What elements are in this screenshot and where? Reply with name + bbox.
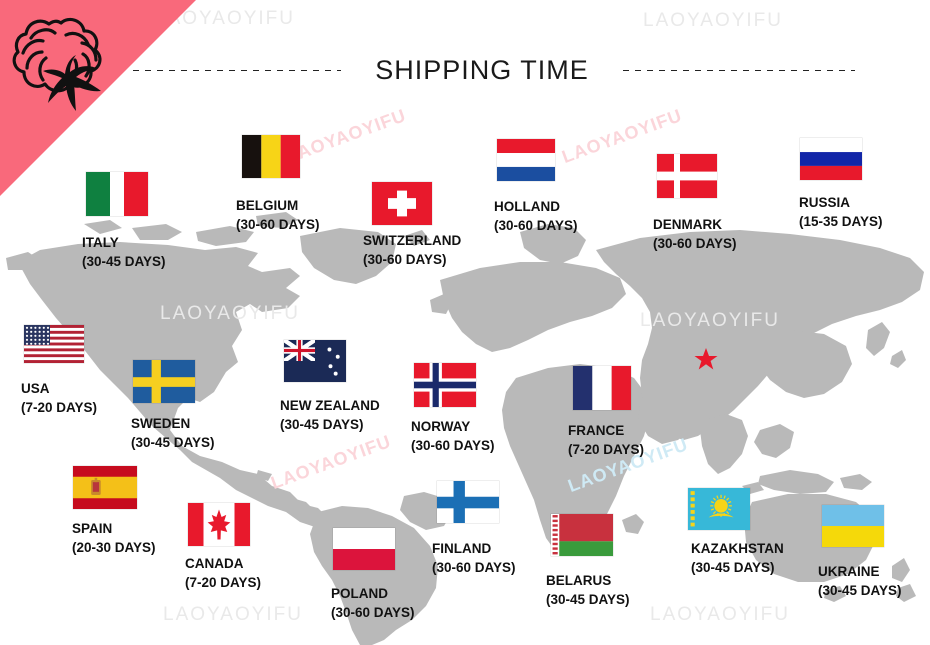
watermark-text: LAOYAOYIFU <box>160 303 300 325</box>
country-caption: SWEDEN(30-45 DAYS) <box>131 414 215 452</box>
flag-switzerland <box>372 182 432 225</box>
shipping-days: (30-45 DAYS) <box>691 558 784 577</box>
flag-belgium <box>242 135 300 178</box>
country-caption: FINLAND(30-60 DAYS) <box>432 539 516 577</box>
country-name: NEW ZEALAND <box>280 396 380 415</box>
country-caption: CANADA(7-20 DAYS) <box>185 554 261 592</box>
country-name: HOLLAND <box>494 197 578 216</box>
country-caption: BELGIUM(30-60 DAYS) <box>236 196 320 234</box>
shipping-days: (30-60 DAYS) <box>653 234 737 253</box>
belarus-flag-icon <box>551 514 613 556</box>
flag-canada <box>188 503 250 546</box>
country-name: BELGIUM <box>236 196 320 215</box>
country-caption: KAZAKHSTAN(30-45 DAYS) <box>691 539 784 577</box>
shipping-days: (30-45 DAYS) <box>82 252 166 271</box>
flag-poland <box>333 528 395 570</box>
italy-flag-icon <box>86 172 148 216</box>
flag-spain <box>73 466 137 509</box>
china-star-marker <box>694 347 718 371</box>
shipping-days: (7-20 DAYS) <box>21 398 97 417</box>
country-caption: RUSSIA(15-35 DAYS) <box>799 193 883 231</box>
country-caption: NEW ZEALAND(30-45 DAYS) <box>280 396 380 434</box>
country-name: SPAIN <box>72 519 156 538</box>
country-name: ITALY <box>82 233 166 252</box>
usa-flag-icon <box>24 325 84 363</box>
russia-flag-icon <box>800 138 862 180</box>
country-caption: HOLLAND(30-60 DAYS) <box>494 197 578 235</box>
canada-flag-icon <box>188 503 250 546</box>
flag-kazakhstan <box>688 488 750 530</box>
switzerland-flag-icon <box>372 182 432 225</box>
country-caption: ITALY(30-45 DAYS) <box>82 233 166 271</box>
poland-flag-icon <box>333 528 395 570</box>
country-name: BELARUS <box>546 571 630 590</box>
shipping-days: (30-60 DAYS) <box>363 250 461 269</box>
spain-flag-icon <box>73 466 137 509</box>
flag-usa <box>24 325 84 363</box>
watermark-text: LAOYAOYIFU <box>268 431 394 494</box>
country-caption: DENMARK(30-60 DAYS) <box>653 215 737 253</box>
country-name: NORWAY <box>411 417 495 436</box>
shipping-days: (30-45 DAYS) <box>131 433 215 452</box>
shipping-days: (30-60 DAYS) <box>494 216 578 235</box>
shipping-days: (30-60 DAYS) <box>432 558 516 577</box>
shipping-days: (30-60 DAYS) <box>411 436 495 455</box>
country-name: KAZAKHSTAN <box>691 539 784 558</box>
norway-flag-icon <box>414 363 476 407</box>
shipping-days: (7-20 DAYS) <box>185 573 261 592</box>
shipping-days: (30-45 DAYS) <box>818 581 902 600</box>
country-name: DENMARK <box>653 215 737 234</box>
holland-flag-icon <box>497 139 555 181</box>
watermark-text: LAOYAOYIFU <box>163 604 303 626</box>
flag-newzealand <box>284 340 346 382</box>
flag-italy <box>86 172 148 216</box>
country-caption: UKRAINE(30-45 DAYS) <box>818 562 902 600</box>
country-name: UKRAINE <box>818 562 902 581</box>
flag-denmark <box>657 154 717 198</box>
country-caption: FRANCE(7-20 DAYS) <box>568 421 644 459</box>
flag-holland <box>497 139 555 181</box>
country-name: FRANCE <box>568 421 644 440</box>
belgium-flag-icon <box>242 135 300 178</box>
page-title: SHIPPING TIME <box>341 55 623 86</box>
country-name: SWEDEN <box>131 414 215 433</box>
divider-right <box>623 70 855 71</box>
country-name: SWITZERLAND <box>363 231 461 250</box>
sweden-flag-icon <box>133 360 195 403</box>
shipping-days: (20-30 DAYS) <box>72 538 156 557</box>
country-name: RUSSIA <box>799 193 883 212</box>
country-name: POLAND <box>331 584 415 603</box>
shipping-days: (30-60 DAYS) <box>236 215 320 234</box>
header-bar: SHIPPING TIME <box>0 48 930 92</box>
shipping-days: (15-35 DAYS) <box>799 212 883 231</box>
country-name: USA <box>21 379 97 398</box>
shipping-days: (7-20 DAYS) <box>568 440 644 459</box>
flag-sweden <box>133 360 195 403</box>
flag-france <box>573 366 631 410</box>
shipping-days: (30-45 DAYS) <box>546 590 630 609</box>
flag-ukraine <box>822 505 884 547</box>
country-name: CANADA <box>185 554 261 573</box>
flag-belarus <box>551 514 613 556</box>
flag-norway <box>414 363 476 407</box>
country-caption: SWITZERLAND(30-60 DAYS) <box>363 231 461 269</box>
denmark-flag-icon <box>657 154 717 198</box>
country-caption: SPAIN(20-30 DAYS) <box>72 519 156 557</box>
country-caption: USA(7-20 DAYS) <box>21 379 97 417</box>
watermark-text: LAOYAOYIFU <box>283 105 409 168</box>
shipping-days: (30-60 DAYS) <box>331 603 415 622</box>
flag-russia <box>800 138 862 180</box>
newzealand-flag-icon <box>284 340 346 382</box>
country-caption: POLAND(30-60 DAYS) <box>331 584 415 622</box>
finland-flag-icon <box>437 481 499 523</box>
country-caption: BELARUS(30-45 DAYS) <box>546 571 630 609</box>
divider-left <box>133 70 341 71</box>
france-flag-icon <box>573 366 631 410</box>
flag-finland <box>437 481 499 523</box>
country-caption: NORWAY(30-60 DAYS) <box>411 417 495 455</box>
ukraine-flag-icon <box>822 505 884 547</box>
shipping-time-infographic: LAOYAOYIFULAOYAOYIFULAOYAOYIFULAOYAOYIFU… <box>0 0 930 645</box>
kazakhstan-flag-icon <box>688 488 750 530</box>
shipping-days: (30-45 DAYS) <box>280 415 380 434</box>
watermark-text: LAOYAOYIFU <box>650 604 790 626</box>
watermark-text: LAOYAOYIFU <box>640 310 780 332</box>
country-name: FINLAND <box>432 539 516 558</box>
watermark-text: LAOYAOYIFU <box>643 10 783 32</box>
